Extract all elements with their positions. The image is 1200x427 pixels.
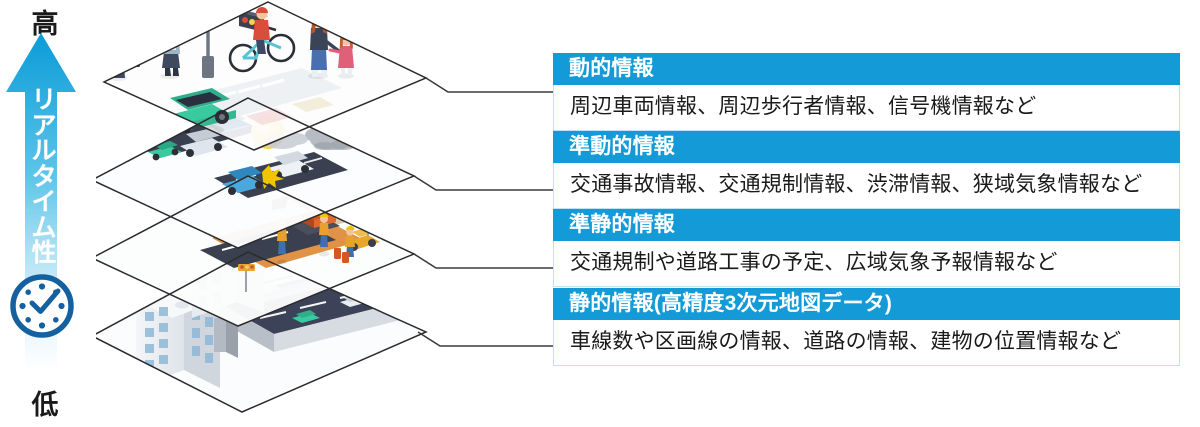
panel-dynamic[interactable]: 動的情報 周辺車両情報、周辺歩行者情報、信号機情報など (553, 53, 1180, 131)
panel-body-quasi-static: 交通規制や道路工事の予定、広域気象予報情報など (553, 241, 1180, 287)
leader-line-dynamic (426, 78, 555, 92)
panel-title-quasi-dynamic: 準動的情報 (553, 131, 1180, 163)
leader-line-static (418, 332, 555, 346)
leader-line-quasi-static (414, 254, 555, 268)
clock-icon (8, 272, 76, 340)
layer-dynamic (104, 2, 426, 150)
panel-title-static: 静的情報(高精度3次元地図データ) (553, 288, 1180, 320)
leader-line-quasi-dynamic (414, 176, 555, 190)
panel-body-dynamic: 周辺車両情報、周辺歩行者情報、信号機情報など (553, 85, 1180, 131)
panel-quasi-static[interactable]: 準静的情報 交通規制や道路工事の予定、広域気象予報情報など (553, 209, 1180, 287)
information-panel-list: 動的情報 周辺車両情報、周辺歩行者情報、信号機情報など 準動的情報 交通事故情報… (553, 0, 1183, 427)
panel-title-quasi-static: 準静的情報 (553, 209, 1180, 241)
panel-body-quasi-dynamic: 交通事故情報、交通規制情報、渋滞情報、狭域気象情報など (553, 163, 1180, 209)
panel-static[interactable]: 静的情報(高精度3次元地図データ) 車線数や区画線の情報、道路の情報、建物の位置… (553, 288, 1180, 366)
panel-body-static: 車線数や区画線の情報、道路の情報、建物の位置情報など (553, 320, 1180, 366)
axis-vertical-label: リ ア ル タ イ ム 性 (26, 88, 62, 267)
panel-quasi-dynamic[interactable]: 準動的情報 交通事故情報、交通規制情報、渋滞情報、狭域気象情報など (553, 131, 1180, 209)
leader-lines (380, 0, 580, 427)
panel-title-dynamic: 動的情報 (553, 53, 1180, 85)
realtime-axis: 高 リ ア ル タ イ ム 性 低 (0, 0, 100, 427)
axis-low-label: 低 (0, 383, 90, 422)
